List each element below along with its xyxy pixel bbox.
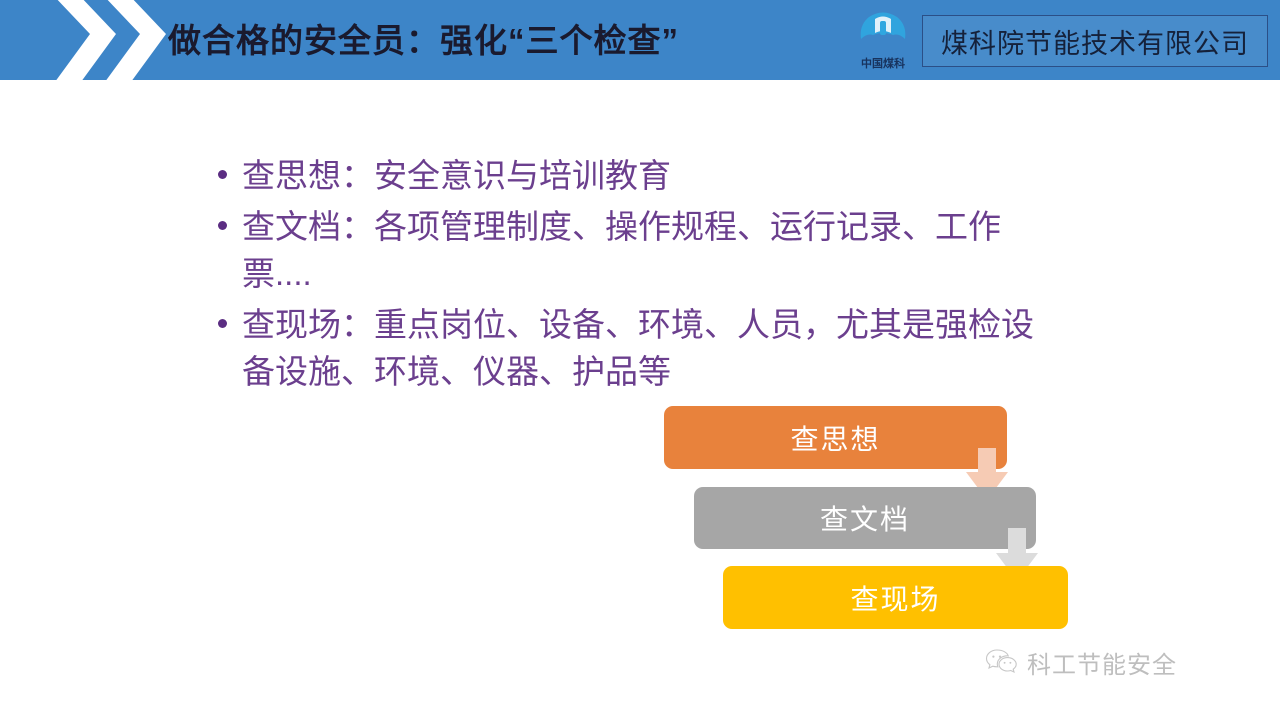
bullet-text: 查文档：各项管理制度、操作规程、运行记录、工作票.... bbox=[242, 203, 1042, 297]
list-item: 查现场：重点岗位、设备、环境、人员，尤其是强检设备设施、环境、仪器、护品等 bbox=[212, 301, 1042, 395]
watermark: 科工节能安全 bbox=[985, 645, 1177, 680]
china-coal-logo-icon bbox=[855, 9, 911, 49]
process-step-label: 查现场 bbox=[850, 578, 940, 618]
process-step-label: 查思想 bbox=[790, 418, 880, 458]
double-chevron-right-icon bbox=[44, 0, 174, 80]
bullet-text: 查思想：安全意识与培训教育 bbox=[242, 152, 1042, 199]
list-item: 查文档：各项管理制度、操作规程、运行记录、工作票.... bbox=[212, 203, 1042, 297]
company-name-text: 煤科院节能技术有限公司 bbox=[941, 22, 1249, 61]
process-step-box-1[interactable]: 查思想 bbox=[664, 406, 1007, 469]
bullet-text: 查现场：重点岗位、设备、环境、人员，尤其是强检设备设施、环境、仪器、护品等 bbox=[242, 301, 1042, 395]
wechat-icon bbox=[985, 648, 1019, 678]
bullet-list: 查思想：安全意识与培训教育 查文档：各项管理制度、操作规程、运行记录、工作票..… bbox=[212, 152, 1042, 399]
process-step-box-2[interactable]: 查文档 bbox=[694, 487, 1036, 549]
process-step-label: 查文档 bbox=[820, 498, 910, 538]
process-step-box-3[interactable]: 查现场 bbox=[723, 566, 1068, 629]
bullet-marker-icon bbox=[218, 170, 227, 179]
slide-canvas: 做合格的安全员：强化“三个检查” 中国煤科 煤科院节能技术有限公司 查思想：安全… bbox=[0, 0, 1280, 720]
bullet-marker-icon bbox=[218, 221, 227, 230]
company-logo-caption: 中国煤科 bbox=[847, 55, 919, 71]
company-logo: 中国煤科 bbox=[847, 9, 919, 71]
slide-header-bar: 做合格的安全员：强化“三个检查” 中国煤科 煤科院节能技术有限公司 bbox=[0, 0, 1280, 80]
list-item: 查思想：安全意识与培训教育 bbox=[212, 152, 1042, 199]
page-title: 做合格的安全员：强化“三个检查” bbox=[168, 14, 828, 68]
watermark-text: 科工节能安全 bbox=[1027, 645, 1177, 680]
bullet-marker-icon bbox=[218, 319, 227, 328]
company-name-box: 煤科院节能技术有限公司 bbox=[922, 15, 1268, 67]
